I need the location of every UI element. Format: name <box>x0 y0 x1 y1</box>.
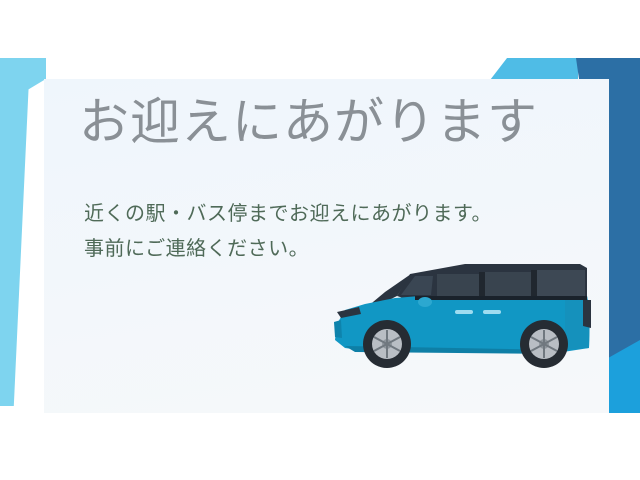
car-c-pillar <box>531 270 537 297</box>
car-window-rear <box>537 270 585 296</box>
car-tail-light <box>583 300 591 328</box>
decorative-right-rail <box>609 58 640 360</box>
car-front-bumper-vent <box>334 320 342 338</box>
car-door-handle-rear <box>483 310 501 314</box>
car-window-middle <box>484 272 532 296</box>
minivan-car-illustration <box>315 252 610 382</box>
car-door-handle-front <box>455 310 473 314</box>
car-beltline <box>415 296 587 300</box>
promo-banner: お迎えにあがります 近くの駅・バス停までお迎えにあがります。 事前にご連絡くださ… <box>0 0 640 480</box>
car-svg <box>315 252 610 382</box>
car-rear-wheel <box>520 320 568 368</box>
car-window-front <box>437 274 479 296</box>
car-b-pillar <box>479 272 485 297</box>
banner-title: お迎えにあがります <box>79 95 538 150</box>
car-front-wheel <box>363 320 411 368</box>
car-side-mirror <box>418 297 432 307</box>
banner-body-line-1: 近くの駅・バス停までお迎えにあがります。 <box>84 197 492 232</box>
decorative-left-tab <box>0 58 44 80</box>
